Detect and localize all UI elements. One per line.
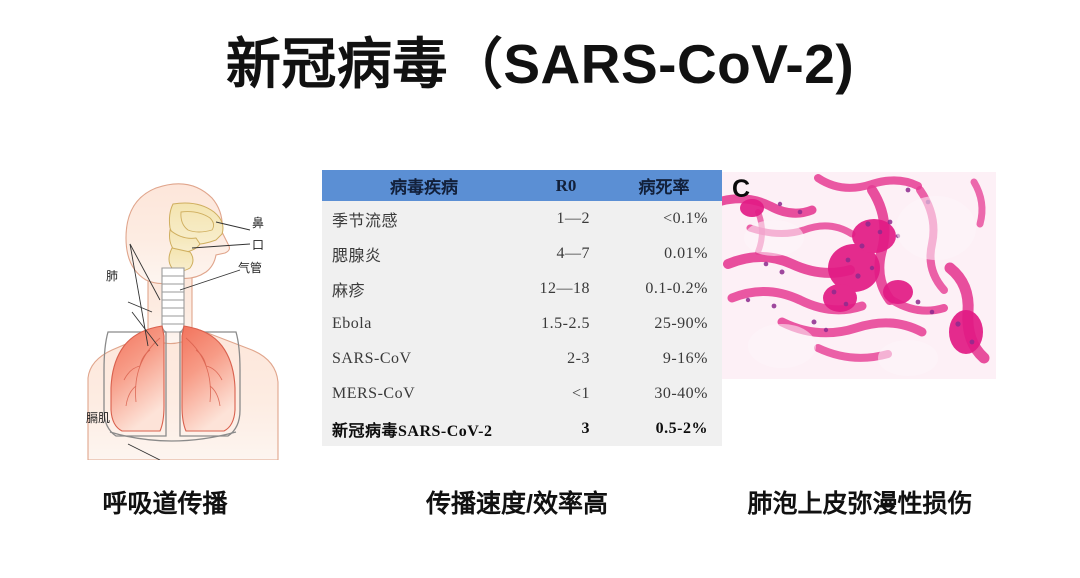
cell-cfr: 30-40%	[612, 376, 722, 411]
cell-r0: 3	[520, 411, 612, 446]
cell-cfr: 0.1-0.2%	[612, 271, 722, 306]
virus-comparison-table: 病毒疾病 R0 病死率 季节流感 1—2 <0.1% 腮腺炎 4—7 0.01%…	[322, 170, 722, 446]
cell-disease: 季节流感	[322, 201, 520, 236]
cell-disease: 新冠病毒SARS-CoV-2	[322, 411, 520, 446]
cell-cfr: 0.5-2%	[612, 411, 722, 446]
column-header-disease: 病毒疾病	[322, 170, 520, 201]
panel-letter-label: C	[732, 174, 750, 204]
table-row: MERS-CoV <1 30-40%	[322, 376, 722, 411]
table-row: 麻疹 12—18 0.1-0.2%	[322, 271, 722, 306]
page-title: 新冠病毒（SARS-CoV-2)	[0, 28, 1080, 100]
histology-image	[722, 172, 996, 379]
anat-label-trachea: 气管	[238, 260, 262, 275]
column-header-cfr: 病死率	[612, 170, 722, 201]
table-row: 腮腺炎 4—7 0.01%	[322, 236, 722, 271]
cell-cfr: 9-16%	[612, 341, 722, 376]
lung-histology-micrograph: C	[722, 172, 996, 379]
anat-label-diaphragm: 膈肌	[86, 411, 110, 425]
cell-disease: MERS-CoV	[322, 376, 520, 411]
cell-disease: SARS-CoV	[322, 341, 520, 376]
cell-r0: 1.5-2.5	[520, 306, 612, 341]
cell-r0: <1	[520, 376, 612, 411]
table-row: Ebola 1.5-2.5 25-90%	[322, 306, 722, 341]
cell-r0: 2-3	[520, 341, 612, 376]
cell-cfr: <0.1%	[612, 201, 722, 236]
caption-transmission-route: 呼吸道传播	[30, 488, 300, 520]
cell-disease: Ebola	[322, 306, 520, 341]
cell-disease: 腮腺炎	[322, 236, 520, 271]
respiratory-tract-diagram: 鼻 口 气管 肺 膈肌	[40, 160, 320, 460]
cell-cfr: 0.01%	[612, 236, 722, 271]
histology-panel: C	[722, 172, 996, 379]
virus-table-panel: 病毒疾病 R0 病死率 季节流感 1—2 <0.1% 腮腺炎 4—7 0.01%…	[322, 170, 710, 458]
cell-cfr: 25-90%	[612, 306, 722, 341]
table-header-row: 病毒疾病 R0 病死率	[322, 170, 722, 201]
cell-r0: 12—18	[520, 271, 612, 306]
anatomy-panel: 鼻 口 气管 肺 膈肌	[40, 160, 320, 460]
anat-label-nose: 鼻	[252, 215, 264, 230]
cell-r0: 1—2	[520, 201, 612, 236]
cell-r0: 4—7	[520, 236, 612, 271]
anat-label-mouth: 口	[252, 238, 264, 252]
anat-label-lung: 肺	[106, 269, 118, 283]
column-header-r0: R0	[520, 170, 612, 201]
table-row: 季节流感 1—2 <0.1%	[322, 201, 722, 236]
table-row: SARS-CoV 2-3 9-16%	[322, 341, 722, 376]
table-row-highlighted: 新冠病毒SARS-CoV-2 3 0.5-2%	[322, 411, 722, 446]
cell-disease: 麻疹	[322, 271, 520, 306]
caption-transmission-speed: 传播速度/效率高	[330, 488, 704, 520]
caption-alveolar-damage: 肺泡上皮弥漫性损伤	[720, 488, 1000, 520]
